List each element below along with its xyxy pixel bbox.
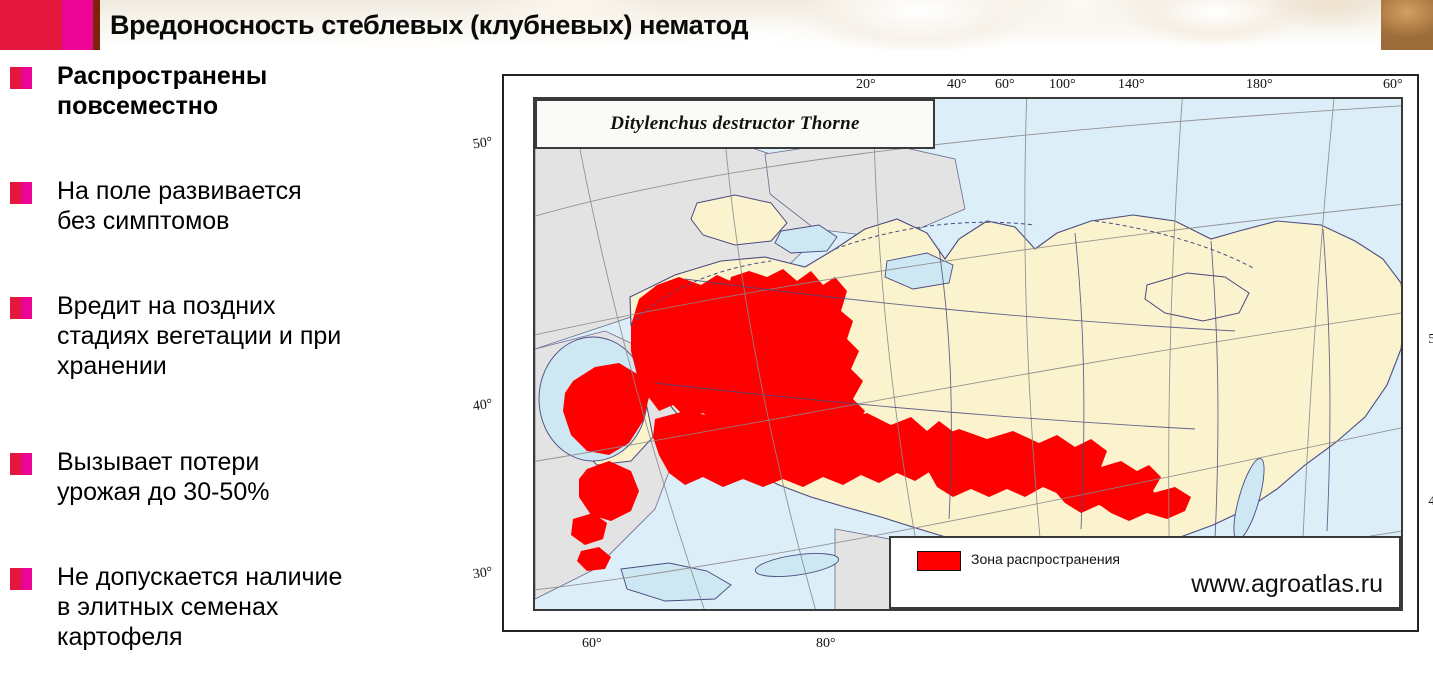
slide-root: Вредоносность стеблевых (клубневых) нема…	[0, 0, 1433, 689]
axis-label-right: 40°	[1428, 494, 1433, 510]
axis-label-top: 100°	[1049, 77, 1076, 93]
legend-color-swatch	[917, 551, 961, 571]
axis-label-top: 40°	[947, 77, 967, 93]
header-potato-right-image	[1381, 0, 1433, 50]
legend-label: Зона распространения	[971, 551, 1120, 567]
list-item-label: Не допускается наличие в элитных семенах…	[57, 563, 342, 652]
header-divider	[93, 0, 100, 50]
list-item-label: На поле развивается без симптомов	[57, 177, 302, 237]
map-legend: Зона распространения www.agroatlas.ru	[889, 536, 1401, 609]
list-item: На поле развивается без симптомов	[0, 177, 480, 237]
axis-label-top: 60°	[995, 77, 1015, 93]
list-item-label: Распространены повсеместно	[57, 62, 267, 122]
slide-header: Вредоносность стеблевых (клубневых) нема…	[0, 0, 1433, 50]
axis-label-top: 140°	[1118, 77, 1145, 93]
list-item: Вызывает потери урожая до 30-50%	[0, 448, 480, 508]
map-graphic	[535, 99, 1403, 611]
axis-label-top: 60°	[1383, 77, 1403, 93]
source-url: www.agroatlas.ru	[1191, 570, 1383, 599]
list-item: Распространены повсеместно	[0, 62, 480, 122]
map-plot-area: Ditylenchus destructor Thorne Зона распр…	[533, 97, 1403, 611]
axis-label-right: 50°	[1428, 332, 1433, 348]
bullet-list: Распространены повсеместно На поле разви…	[0, 58, 490, 689]
bullet-square-icon	[10, 182, 32, 204]
page-title: Вредоносность стеблевых (клубневых) нема…	[110, 0, 748, 50]
list-item: Не допускается наличие в элитных семенах…	[0, 563, 480, 652]
axis-label-top: 180°	[1246, 77, 1273, 93]
bullet-square-icon	[10, 568, 32, 590]
header-accent-red-block	[0, 0, 62, 50]
header-accent-magenta-block	[62, 0, 93, 50]
distribution-map: 20° 40° 60° 100° 140° 180° 60° 60° 80° 5…	[502, 74, 1419, 632]
bullet-square-icon	[10, 67, 32, 89]
bullet-square-icon	[10, 297, 32, 319]
axis-label-left: 40°	[472, 397, 494, 416]
axis-label-bottom: 80°	[816, 636, 836, 652]
bullet-square-icon	[10, 453, 32, 475]
list-item-label: Вызывает потери урожая до 30-50%	[57, 448, 269, 508]
map-title-box: Ditylenchus destructor Thorne	[535, 99, 935, 149]
list-item: Вредит на поздних стадиях вегетации и пр…	[0, 292, 480, 381]
map-species-title: Ditylenchus destructor Thorne	[610, 113, 859, 135]
axis-label-top: 20°	[856, 77, 876, 93]
axis-label-left: 30°	[472, 565, 494, 584]
axis-label-left: 50°	[472, 135, 494, 154]
list-item-label: Вредит на поздних стадиях вегетации и пр…	[57, 292, 341, 381]
axis-label-bottom: 60°	[582, 636, 602, 652]
